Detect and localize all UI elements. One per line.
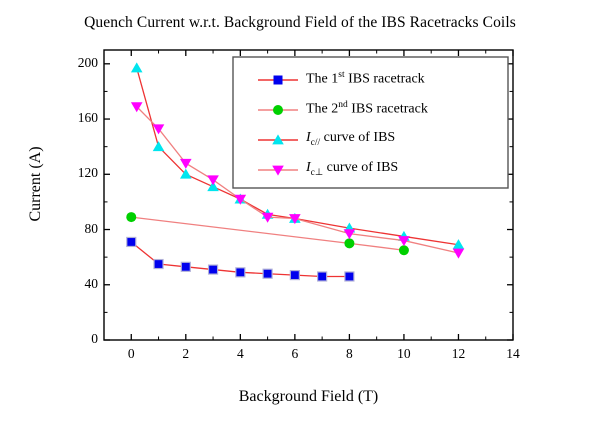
data-point-circle <box>399 245 409 255</box>
data-point-square <box>209 265 218 274</box>
data-point-triangle-up <box>153 141 165 151</box>
series-0 <box>127 237 354 281</box>
data-point-square <box>127 237 136 246</box>
data-point-square <box>318 272 327 281</box>
data-point-square <box>263 269 272 278</box>
plot-frame <box>104 50 513 340</box>
legend-label-1: The 2nd IBS racetrack <box>306 100 428 118</box>
data-point-triangle-down <box>453 249 465 259</box>
legend-label-2: Ic// curve of IBS <box>306 130 395 148</box>
data-point-triangle-down <box>180 159 192 169</box>
series-line <box>137 107 459 253</box>
data-point-square <box>236 268 245 277</box>
data-point-square <box>181 262 190 271</box>
series-3 <box>131 102 464 258</box>
data-point-triangle-down <box>207 175 219 185</box>
data-point-square <box>290 271 299 280</box>
series-2 <box>131 62 464 249</box>
legend-label-0: The 1st IBS racetrack <box>306 70 425 88</box>
chart-figure: Quench Current w.r.t. Background Field o… <box>0 0 600 424</box>
data-point-circle <box>126 212 136 222</box>
plot-area <box>0 0 600 424</box>
data-point-square <box>345 272 354 281</box>
legend-label-3: Ic⊥ curve of IBS <box>306 160 398 178</box>
data-point-circle <box>344 238 354 248</box>
data-point-square <box>154 260 163 269</box>
data-point-triangle-up <box>131 62 143 72</box>
